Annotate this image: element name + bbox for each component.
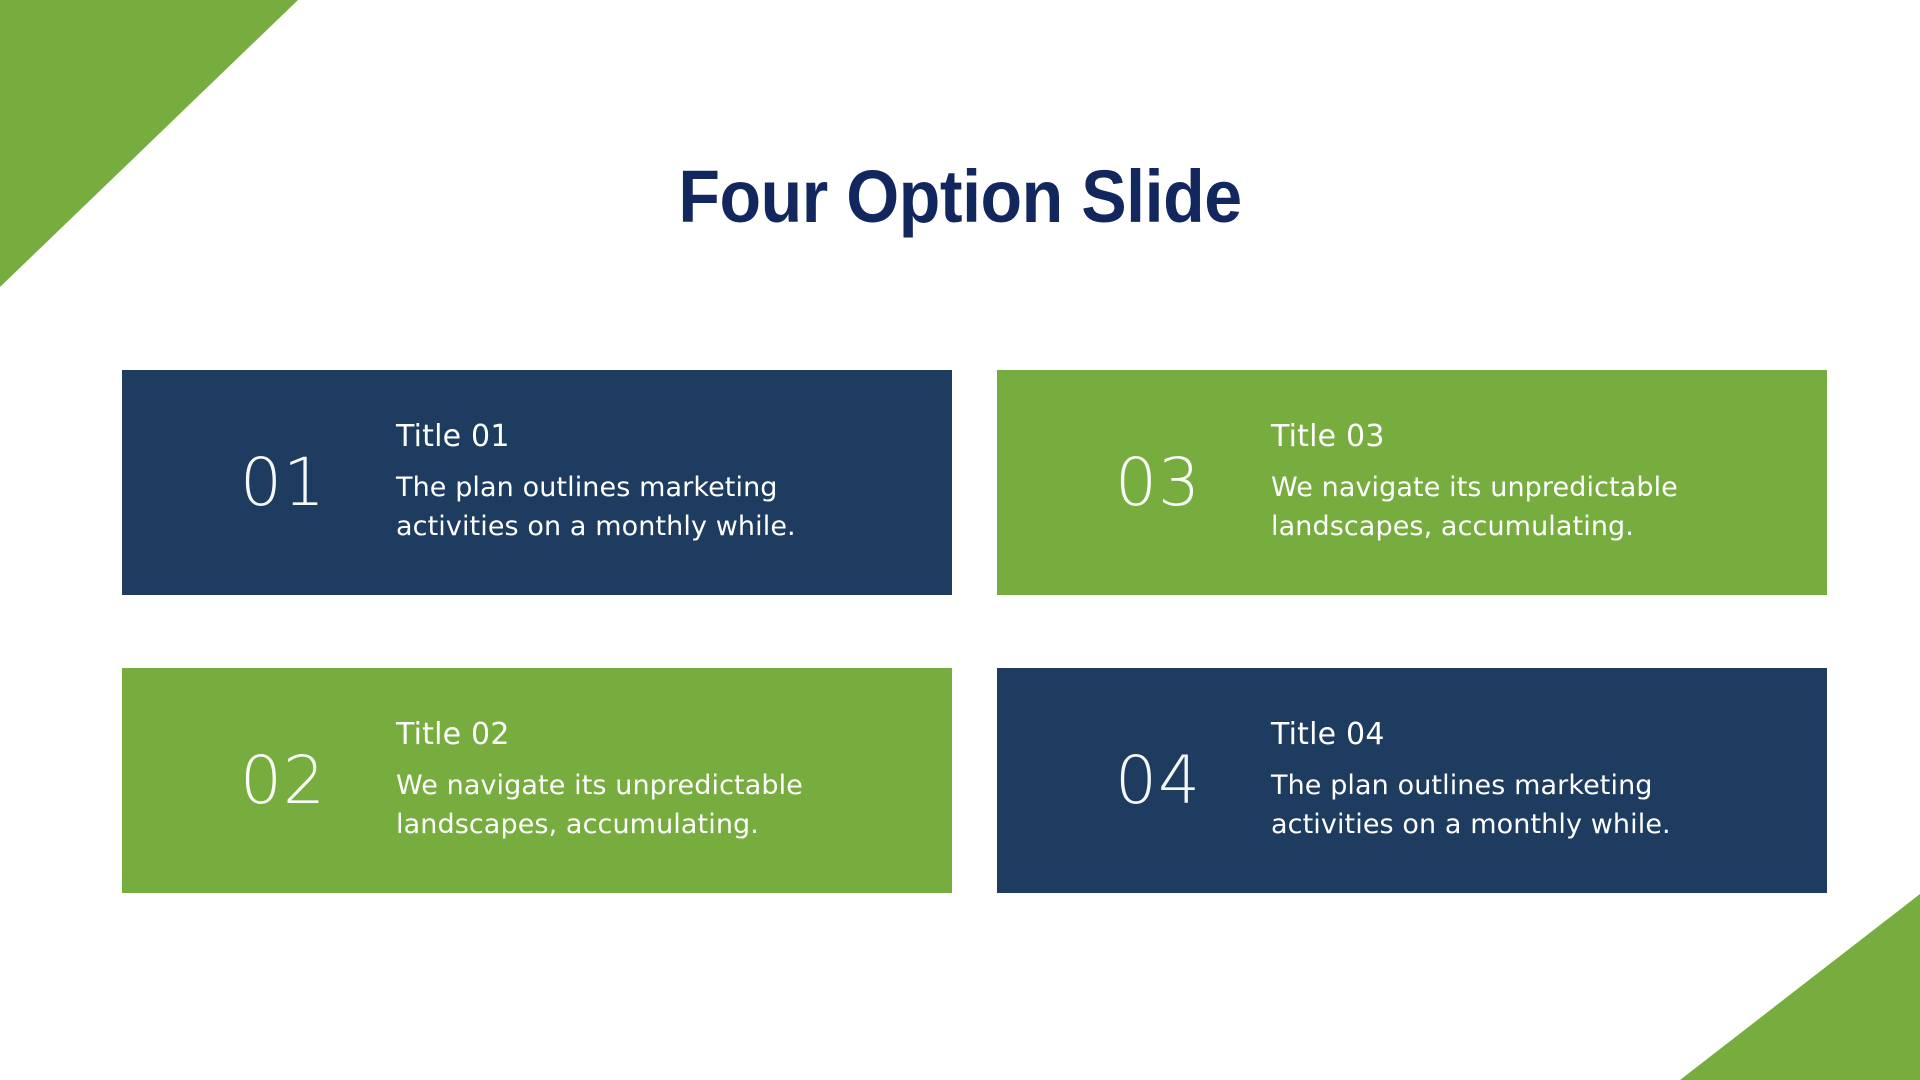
option-card-body: Title 02 We navigate its unpredictable l…: [390, 717, 926, 844]
option-card-number: 03: [1115, 450, 1265, 516]
page-title: Four Option Slide: [77, 160, 1843, 234]
option-card-body: Title 01 The plan outlines marketing act…: [390, 419, 926, 546]
option-card-body: Title 04 The plan outlines marketing act…: [1265, 717, 1801, 844]
option-card-description: The plan outlines marketing activities o…: [1271, 767, 1801, 844]
option-card-title: Title 04: [1271, 717, 1801, 753]
option-card-grid: 01 Title 01 The plan outlines marketing …: [122, 370, 1827, 893]
option-card-01[interactable]: 01 Title 01 The plan outlines marketing …: [122, 370, 952, 595]
option-card-number: 02: [240, 748, 390, 814]
bottom-right-green-triangle-decoration: [1680, 894, 1920, 1080]
option-card-description: We navigate its unpredictable landscapes…: [396, 767, 926, 844]
option-card-title: Title 01: [396, 419, 926, 455]
option-card-title: Title 02: [396, 717, 926, 753]
option-card-02[interactable]: 02 Title 02 We navigate its unpredictabl…: [122, 668, 952, 893]
slide-canvas: Four Option Slide 01 Title 01 The plan o…: [0, 0, 1920, 1080]
option-card-description: The plan outlines marketing activities o…: [396, 469, 926, 546]
option-card-04[interactable]: 04 Title 04 The plan outlines marketing …: [997, 668, 1827, 893]
option-card-title: Title 03: [1271, 419, 1801, 455]
option-card-body: Title 03 We navigate its unpredictable l…: [1265, 419, 1801, 546]
option-card-03[interactable]: 03 Title 03 We navigate its unpredictabl…: [997, 370, 1827, 595]
option-card-number: 04: [1115, 748, 1265, 814]
option-card-description: We navigate its unpredictable landscapes…: [1271, 469, 1801, 546]
top-left-green-triangle-decoration: [0, 0, 298, 287]
option-card-number: 01: [240, 450, 390, 516]
